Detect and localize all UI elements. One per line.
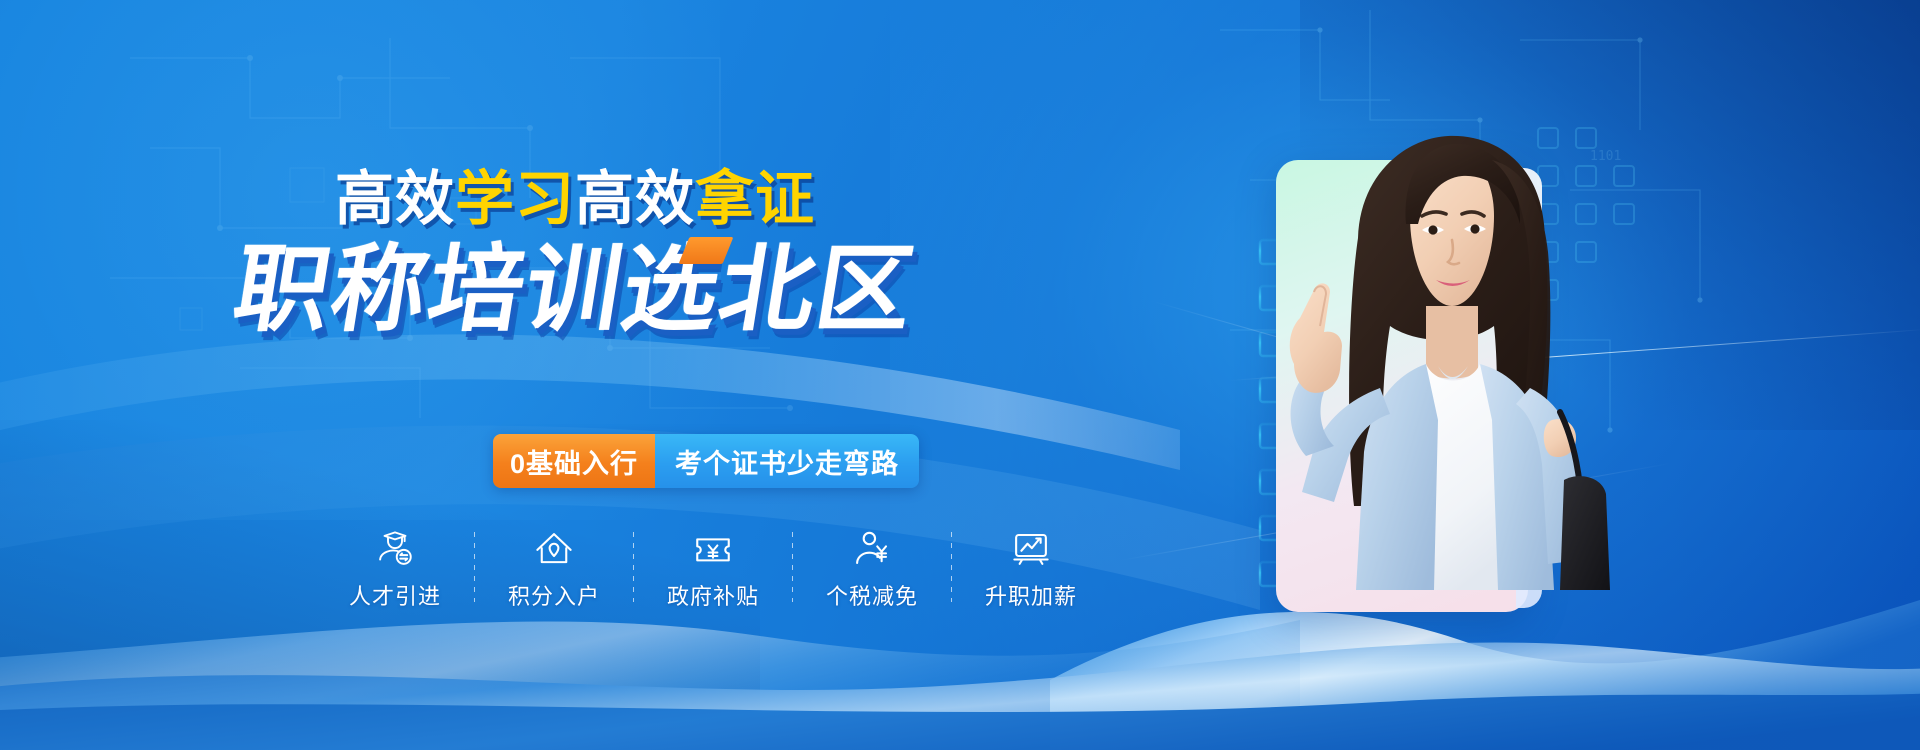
feature-divider — [951, 532, 952, 602]
headline-line-1: 高效学习高效拿证 — [335, 170, 815, 229]
feature-item-points-residency[interactable]: 积分入户 — [489, 528, 619, 611]
businesswoman-photo — [1230, 120, 1790, 640]
feature-item-promotion-raise[interactable]: 升职加薪 — [966, 528, 1096, 611]
headline-seg-4: 拿证 — [695, 166, 815, 232]
house-pin-icon — [533, 528, 575, 570]
iris-left — [1428, 225, 1437, 234]
model-stage — [1230, 120, 1790, 640]
feature-item-talent-introduction[interactable]: 人才引进 — [330, 528, 460, 611]
feature-divider — [792, 532, 793, 602]
feature-label: 积分入户 — [508, 579, 600, 611]
headline-line-2: 职称培训选北区 — [228, 241, 923, 340]
headline-seg-1: 高效 — [335, 166, 455, 232]
feature-list: 人才引进 积分入户 政府补 — [330, 528, 1096, 611]
feature-item-government-subsidy[interactable]: 政府补贴 — [648, 528, 778, 611]
feature-label: 政府补贴 — [667, 579, 759, 611]
feature-label: 升职加薪 — [985, 579, 1077, 611]
promo-banner: 1010 0110 1101 — [0, 0, 1920, 750]
iris-right — [1470, 224, 1479, 233]
person-yuan-icon — [851, 528, 893, 570]
headline-block: 高效学习高效拿证 职称培训选北区 — [0, 170, 1150, 340]
feature-divider — [633, 532, 634, 602]
badge-right-label: 考个证书少走弯路 — [655, 434, 919, 488]
feature-label: 人才引进 — [349, 579, 441, 611]
headline-seg-3: 高效 — [575, 166, 695, 232]
chart-board-icon — [1010, 528, 1052, 570]
badge-left-label: 0基础入行 — [493, 434, 655, 488]
pointing-hand — [1290, 283, 1342, 392]
ticket-yuan-icon — [692, 528, 734, 570]
headline-seg-2: 学习 — [455, 166, 575, 232]
handbag — [1560, 476, 1610, 590]
feature-item-tax-reduction[interactable]: 个税减免 — [807, 528, 937, 611]
tagline-badge: 0基础入行 考个证书少走弯路 — [493, 434, 919, 488]
feature-divider — [474, 532, 475, 602]
headline-line-2-wrapper: 职称培训选北区 — [235, 241, 914, 340]
graduate-person-icon — [374, 528, 416, 570]
neck — [1426, 306, 1478, 379]
feature-label: 个税减免 — [826, 579, 918, 611]
